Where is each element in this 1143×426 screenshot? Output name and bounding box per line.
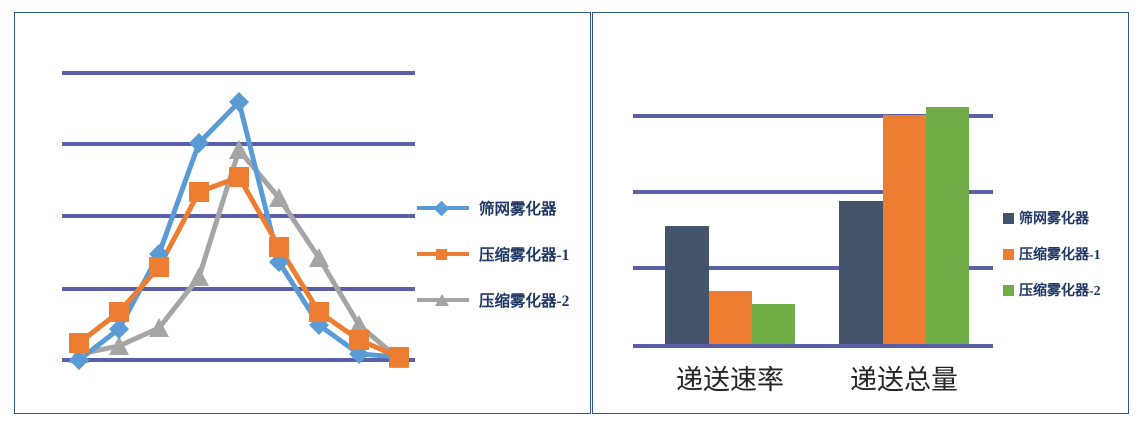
bar-total-compress2[interactable] [926, 107, 969, 344]
bar-legend-item-compress1[interactable]: 压缩雾化器-1 [1003, 236, 1133, 272]
bar-legend-label-compress1: 压缩雾化器-1 [1019, 244, 1101, 264]
bar-gridline-4 [633, 344, 993, 348]
legend-item-compress1[interactable]: 压缩雾化器-1 [417, 231, 587, 277]
category-label-total: 递送总量 [829, 358, 979, 397]
bar-total-sieve[interactable] [839, 201, 883, 344]
triangle-marker-icon [417, 291, 469, 309]
left-chart-legend: 筛网雾化器 压缩雾化器-1 压缩雾化器-2 [417, 185, 587, 323]
legend-label-compress1: 压缩雾化器-1 [479, 243, 569, 265]
legend-label-sieve: 筛网雾化器 [479, 197, 557, 219]
bar-rate-compress1[interactable] [709, 291, 752, 344]
figure-container: 筛网雾化器 压缩雾化器-1 压缩雾化器-2 [0, 0, 1143, 426]
legend-label-compress2: 压缩雾化器-2 [479, 289, 569, 311]
bar-legend-item-sieve[interactable]: 筛网雾化器 [1003, 200, 1133, 236]
bar-legend-label-sieve: 筛网雾化器 [1019, 208, 1089, 228]
line-chart-plot-area: 筛网雾化器 压缩雾化器-1 压缩雾化器-2 [15, 13, 590, 413]
square-swatch-icon [1003, 249, 1014, 260]
bar-rate-sieve[interactable] [665, 226, 709, 344]
category-label-rate: 递送速率 [655, 358, 805, 397]
left-chart-panel: 筛网雾化器 压缩雾化器-1 压缩雾化器-2 [14, 12, 591, 414]
right-chart-legend: 筛网雾化器 压缩雾化器-1 压缩雾化器-2 [1003, 200, 1133, 308]
legend-item-compress2[interactable]: 压缩雾化器-2 [417, 277, 587, 323]
bar-total-compress1[interactable] [883, 115, 926, 344]
bar-legend-label-compress2: 压缩雾化器-2 [1019, 280, 1101, 300]
diamond-marker-icon [417, 199, 469, 217]
square-swatch-icon [1003, 213, 1014, 224]
square-swatch-icon [1003, 285, 1014, 296]
bar-legend-item-compress2[interactable]: 压缩雾化器-2 [1003, 272, 1133, 308]
legend-item-sieve[interactable]: 筛网雾化器 [417, 185, 587, 231]
bar-rate-compress2[interactable] [752, 304, 795, 344]
square-marker-icon [417, 245, 469, 263]
